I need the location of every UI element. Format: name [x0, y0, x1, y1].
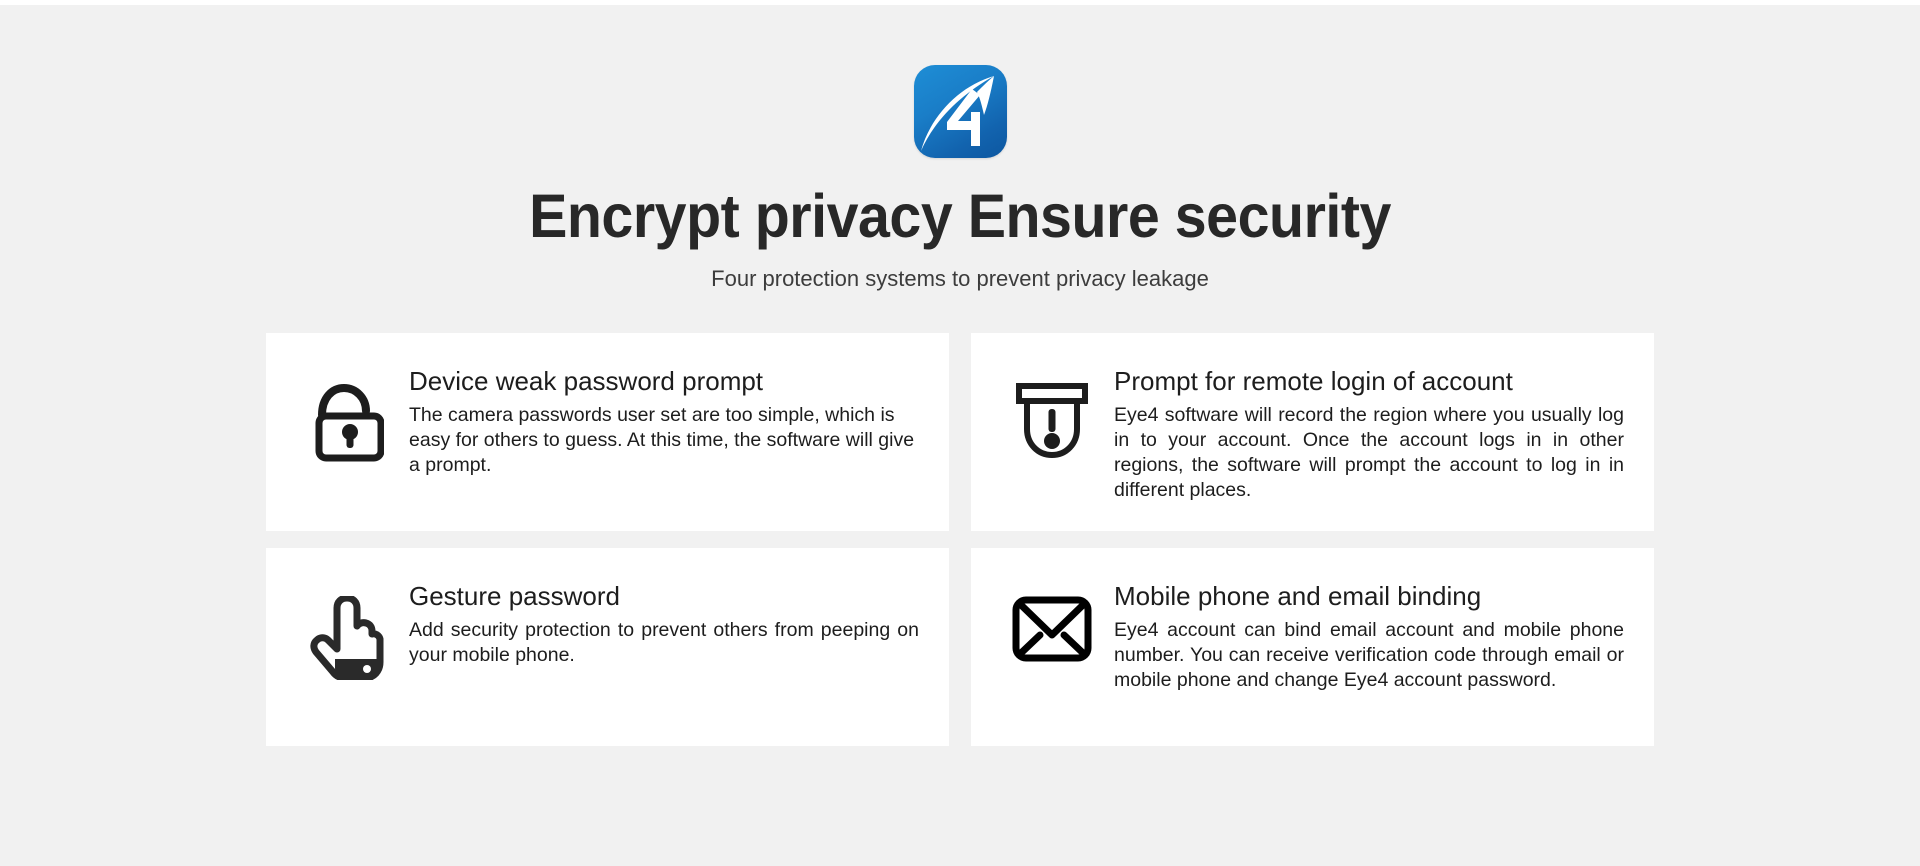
feature-card: Gesture password Add security protection… [266, 548, 949, 746]
eye4-logo-icon [914, 65, 1007, 158]
feature-card-text: The camera passwords user set are too si… [409, 403, 919, 478]
feature-card-body: Prompt for remote login of account Eye4 … [1103, 367, 1624, 503]
page-title: Encrypt privacy Ensure security [58, 184, 1863, 248]
feature-card-body: Gesture password Add security protection… [398, 582, 919, 668]
feature-card-grid: Device weak password prompt The camera p… [266, 292, 1654, 746]
envelope-icon [1001, 582, 1103, 662]
open-padlock-icon [296, 367, 398, 463]
feature-card: Mobile phone and email binding Eye4 acco… [971, 548, 1654, 746]
feature-card-text: Add security protection to prevent other… [409, 618, 919, 668]
feature-card-text: Eye4 account can bind email account and … [1114, 618, 1624, 693]
shield-alert-icon [1001, 367, 1103, 465]
page-header: Encrypt privacy Ensure security Four pro… [0, 5, 1920, 292]
feature-card-text: Eye4 software will record the region whe… [1114, 403, 1624, 503]
promo-page: Encrypt privacy Ensure security Four pro… [0, 0, 1920, 866]
feature-card-title: Gesture password [409, 582, 919, 612]
feature-card: Device weak password prompt The camera p… [266, 333, 949, 531]
feature-card: Prompt for remote login of account Eye4 … [971, 333, 1654, 531]
pointing-hand-icon [296, 582, 398, 680]
page-subtitle: Four protection systems to prevent priva… [0, 266, 1920, 292]
feature-card-title: Mobile phone and email binding [1114, 582, 1624, 612]
feature-card-title: Device weak password prompt [409, 367, 919, 397]
feature-card-title: Prompt for remote login of account [1114, 367, 1624, 397]
feature-card-body: Mobile phone and email binding Eye4 acco… [1103, 582, 1624, 693]
feature-card-body: Device weak password prompt The camera p… [398, 367, 919, 478]
